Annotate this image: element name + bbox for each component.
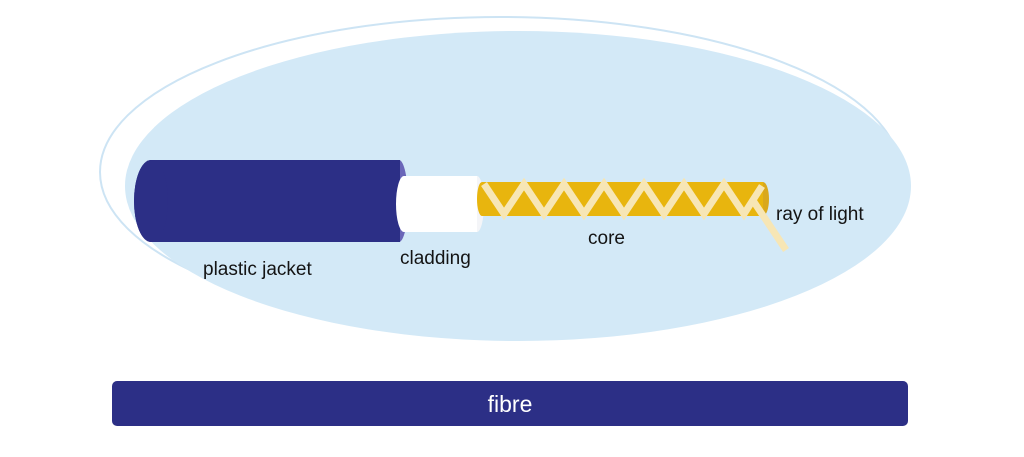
core-part (477, 182, 769, 216)
diagram-canvas: plastic jacket cladding core ray of ligh… (0, 0, 1024, 457)
cladding-part (396, 176, 484, 232)
cladding-left-cap (396, 176, 412, 232)
jacket-body (150, 160, 400, 242)
label-plastic-jacket: plastic jacket (203, 259, 312, 280)
label-core: core (588, 228, 625, 249)
fibre-diagram: plastic jacket cladding core ray of ligh… (0, 0, 1024, 457)
label-ray-of-light: ray of light (776, 204, 864, 225)
cladding-body (404, 176, 477, 232)
fibre-banner: fibre (112, 381, 908, 426)
label-cladding: cladding (400, 248, 471, 269)
jacket-left-cap-shade (134, 160, 168, 242)
plastic-jacket-part (134, 160, 408, 242)
fibre-banner-label: fibre (488, 391, 533, 417)
